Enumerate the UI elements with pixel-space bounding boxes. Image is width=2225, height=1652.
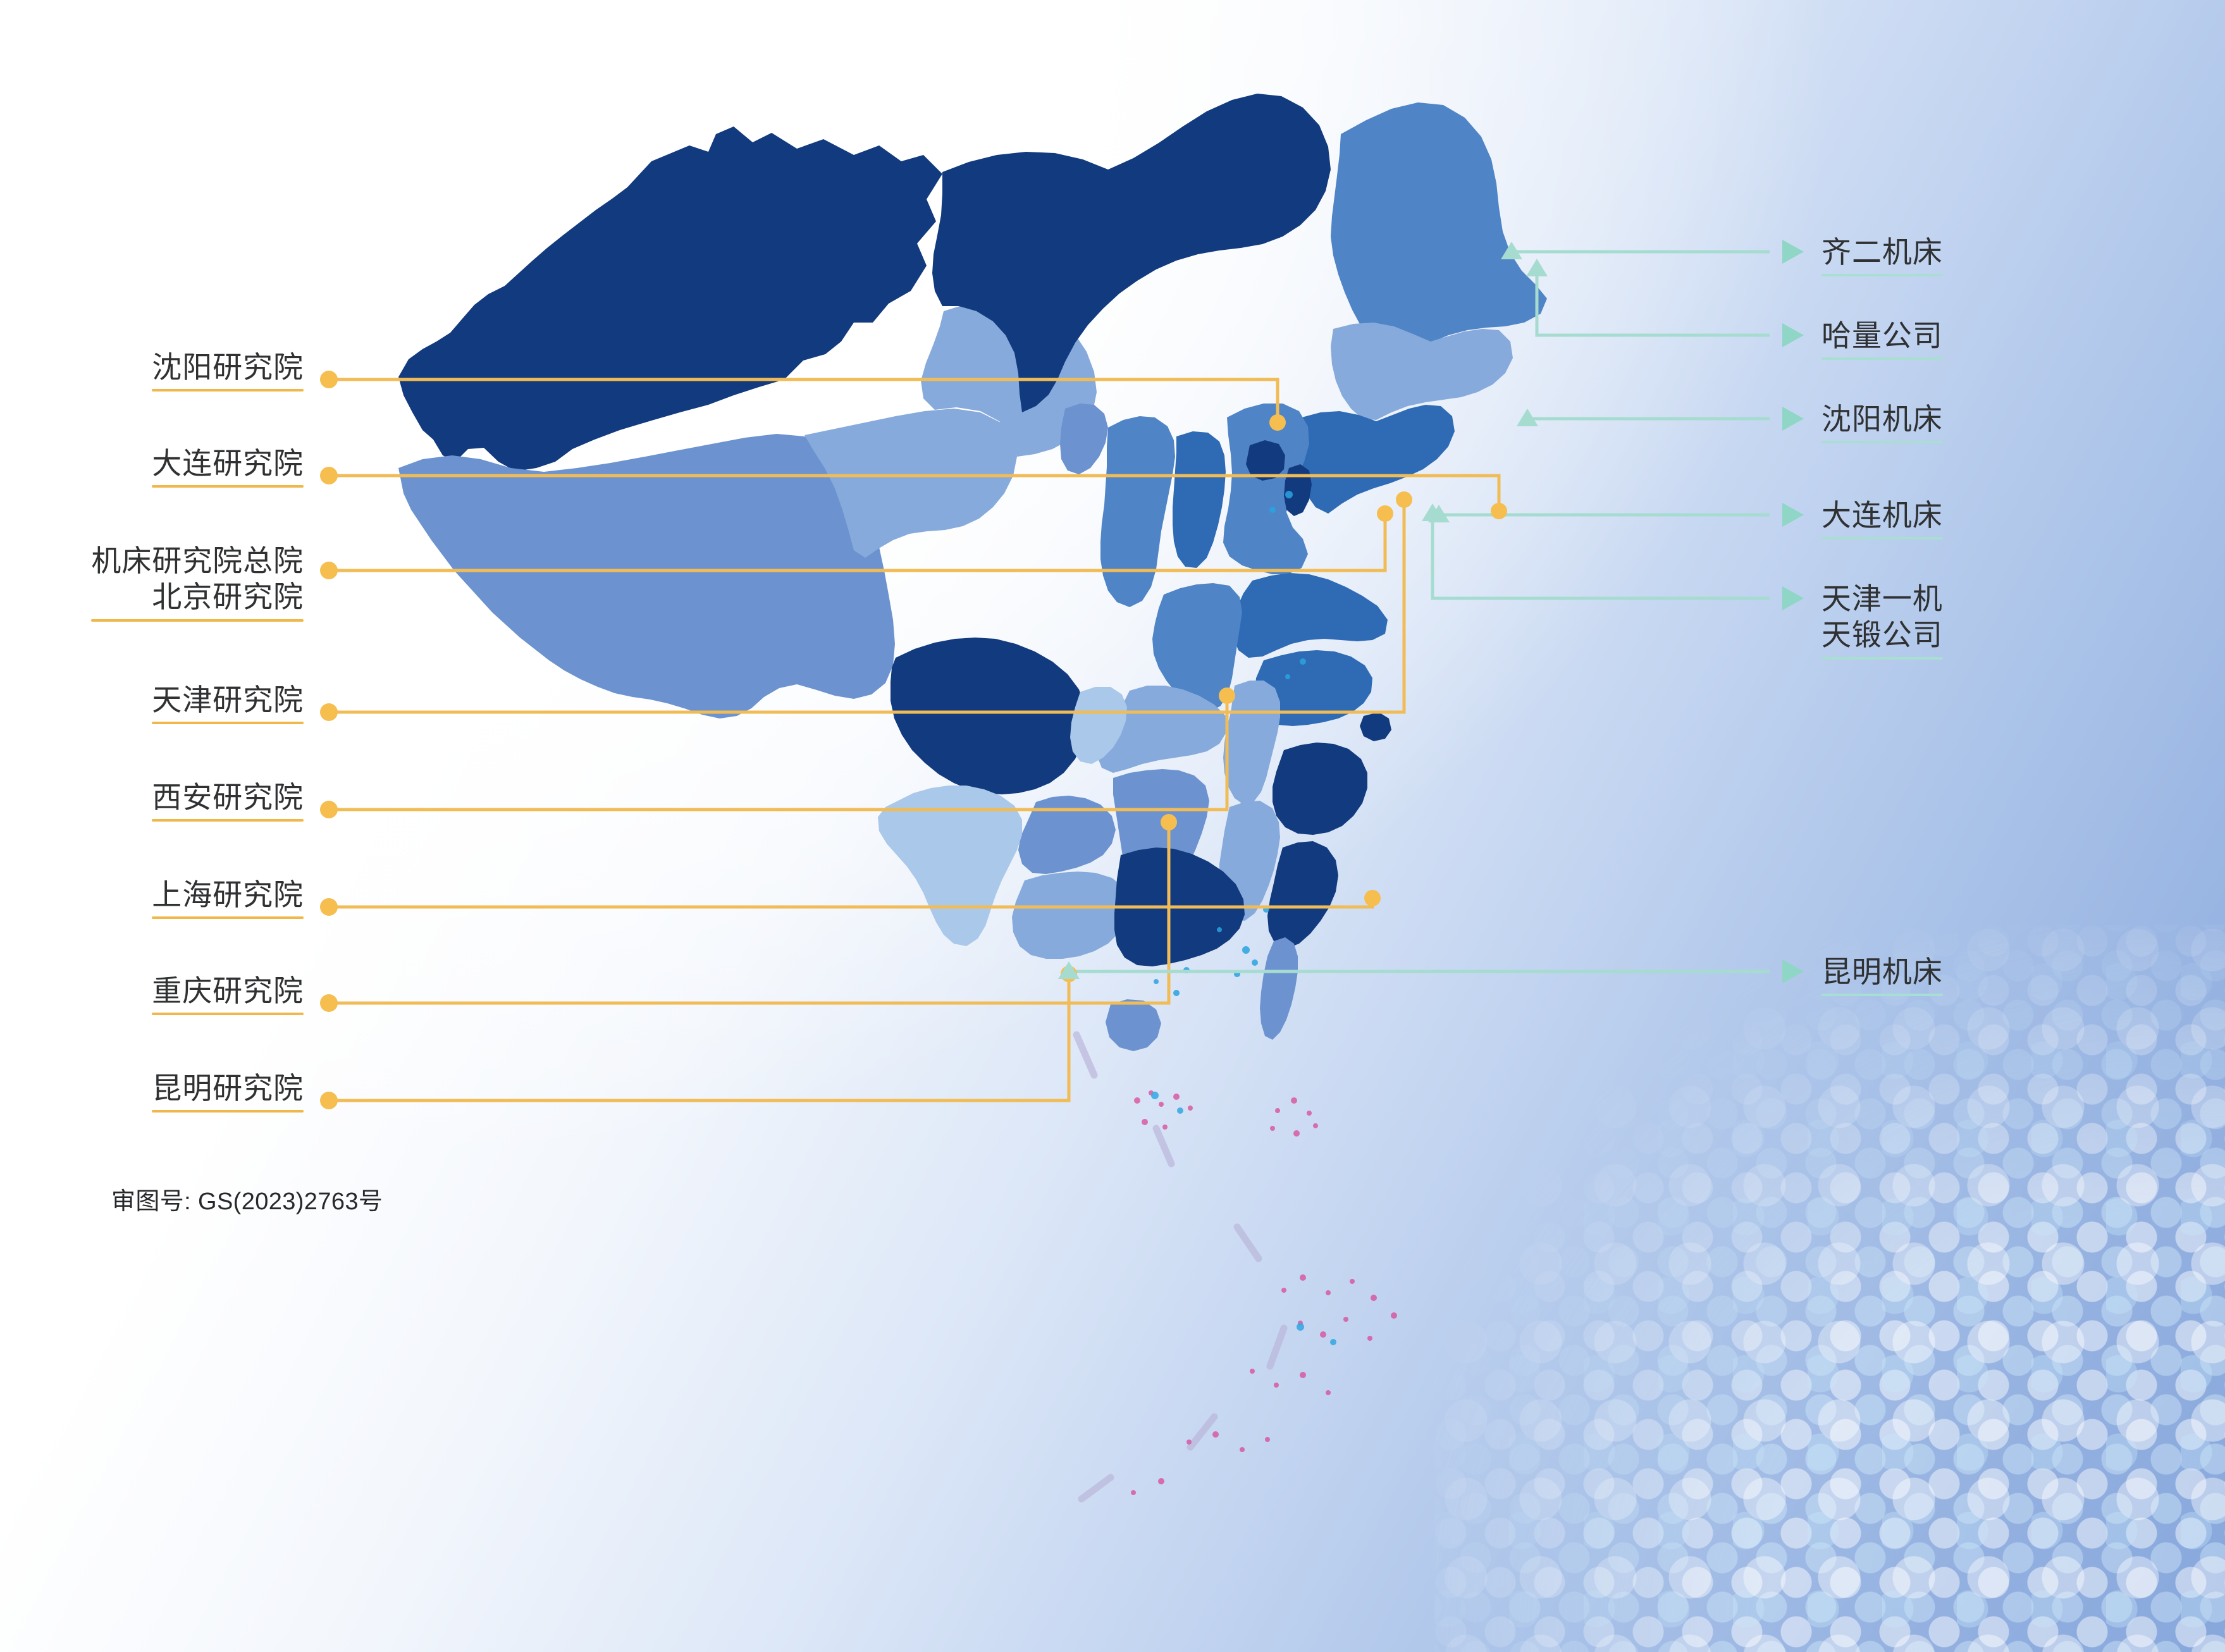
- connector-dot-shanghai-institute: [320, 898, 338, 916]
- connector-triangle-kunming-machine-tool: [1782, 959, 1804, 983]
- connector-dot-kunming-institute: [320, 1092, 338, 1109]
- label-text: 昆明机床: [1821, 954, 1943, 990]
- label-underline: [152, 1013, 304, 1015]
- label-haliang-company[interactable]: 哈量公司: [1821, 317, 1943, 360]
- connector-triangle-qier-machine-tool: [1782, 240, 1804, 264]
- label-tianjin-institute[interactable]: 天津研究院: [152, 682, 304, 724]
- connector-dot-xian-institute: [320, 801, 338, 818]
- province-taiwan: [1260, 937, 1298, 1040]
- label-text: 哈量公司: [1821, 317, 1943, 354]
- province-tianjin: [1284, 464, 1312, 516]
- china-map: .t-darkest{fill:#123a7e} .t-dark{fill:#1…: [354, 25, 1682, 1606]
- province-shanghai: [1360, 712, 1391, 741]
- label-dalian-institute[interactable]: 大连研究院: [152, 445, 304, 488]
- province-sichuan: [891, 638, 1087, 794]
- label-underline: [91, 619, 304, 622]
- label-underline: [152, 722, 304, 724]
- label-text: 重庆研究院: [152, 973, 304, 1009]
- label-xian-institute[interactable]: 西安研究院: [152, 779, 304, 822]
- province-liaoning: [1297, 405, 1455, 514]
- label-text: 天津一机: [1821, 581, 1943, 617]
- province-shanxi: [1173, 431, 1226, 568]
- label-chongqing-institute[interactable]: 重庆研究院: [152, 973, 304, 1015]
- label-qier-machine-tool[interactable]: 齐二机床: [1821, 234, 1943, 276]
- label-shenyang-machine-tool[interactable]: 沈阳机床: [1821, 401, 1943, 443]
- province-yunnan: [878, 786, 1022, 946]
- province-guizhou: [1018, 796, 1116, 874]
- label-underline: [1821, 994, 1943, 996]
- label-underline: [152, 916, 304, 919]
- label-underline: [152, 1110, 304, 1113]
- label-underline: [1821, 657, 1943, 660]
- province-xizang: [398, 434, 895, 718]
- connector-triangle-shenyang-machine-tool: [1782, 407, 1804, 431]
- label-text: 机床研究院总院: [91, 543, 304, 579]
- province-xinjiang: [398, 126, 942, 471]
- label-underline: [152, 819, 304, 822]
- label-text: 天锻公司: [1821, 617, 1943, 653]
- label-tianjin-yiji[interactable]: 天津一机天锻公司: [1821, 581, 1943, 660]
- connector-dot-dalian-institute: [320, 467, 338, 484]
- label-text: 上海研究院: [152, 877, 304, 913]
- label-text: 沈阳研究院: [152, 349, 304, 385]
- connector-dot-beijing-institute: [320, 562, 338, 579]
- label-text: 天津研究院: [152, 682, 304, 718]
- province-hainan: [1106, 999, 1161, 1051]
- map-approval-number: 审图号: GS(2023)2763号: [111, 1181, 383, 1216]
- label-text: 沈阳机床: [1821, 401, 1943, 437]
- province-heilongjiang: [1331, 102, 1547, 362]
- label-underline: [1821, 274, 1943, 276]
- connector-triangle-haliang-company: [1782, 323, 1804, 347]
- connector-dot-chongqing-institute: [320, 994, 338, 1012]
- south-china-sea-islands: [1076, 1035, 1397, 1499]
- label-text: 大连机床: [1821, 497, 1943, 533]
- province-guangxi: [1012, 872, 1130, 959]
- label-shanghai-institute[interactable]: 上海研究院: [152, 877, 304, 919]
- connector-triangle-dalian-machine-tool: [1782, 503, 1804, 527]
- label-kunming-institute[interactable]: 昆明研究院: [152, 1070, 304, 1113]
- label-dalian-machine-tool[interactable]: 大连机床: [1821, 497, 1943, 539]
- label-text: 西安研究院: [152, 779, 304, 815]
- province-zhejiang: [1273, 743, 1367, 835]
- province-anhui: [1223, 681, 1280, 804]
- label-text: 昆明研究院: [152, 1070, 304, 1106]
- label-kunming-machine-tool[interactable]: 昆明机床: [1821, 954, 1943, 996]
- label-underline: [152, 485, 304, 488]
- label-beijing-institute[interactable]: 机床研究院总院北京研究院: [91, 543, 304, 622]
- label-shenyang-institute[interactable]: 沈阳研究院: [152, 349, 304, 391]
- connector-triangle-tianjin-yiji: [1782, 586, 1804, 610]
- map-provinces: [398, 94, 1547, 1051]
- label-underline: [1821, 537, 1943, 539]
- label-text: 北京研究院: [91, 579, 304, 615]
- province-shaanxi: [1100, 416, 1175, 607]
- label-underline: [1821, 441, 1943, 443]
- label-text: 齐二机床: [1821, 234, 1943, 270]
- connector-dot-shenyang-institute: [320, 371, 338, 388]
- province-fujian: [1267, 841, 1338, 949]
- province-ningxia: [1060, 404, 1108, 474]
- connector-dot-tianjin-institute: [320, 703, 338, 721]
- label-text: 大连研究院: [152, 445, 304, 481]
- province-shandong: [1233, 573, 1388, 658]
- label-underline: [152, 389, 304, 391]
- label-underline: [1821, 357, 1943, 360]
